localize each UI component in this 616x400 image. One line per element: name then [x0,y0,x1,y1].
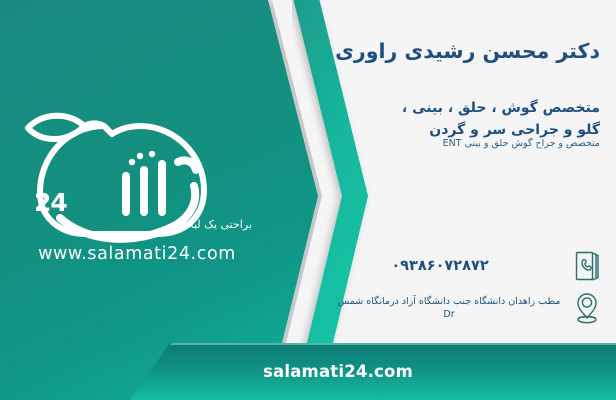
specialty-line-1: متخصص گوش ، حلق ، بینی ، [402,100,600,116]
doctor-specialty: متخصص گوش ، حلق ، بینی ، گلو و جراحی سر … [330,98,600,141]
phone-book-icon [570,246,604,286]
doctor-name: دکتر محسن رشیدی راوری [330,38,600,65]
salamati24-logo: 24 براحتی یک لبخند www.salamati24.com [8,100,266,280]
logo-website-url: www.salamati24.com [8,244,266,264]
doctor-specialty-subtitle: متخصص و جراح گوش حلق و بینی ENT [330,138,600,149]
logo-tagline: براحتی یک لبخند [178,218,252,231]
phone-number: ۰۹۳۸۶۰۷۲۸۷۲ [330,258,570,274]
contact-row-address: مطب زاهدان دانشگاه جنب دانشگاه آزاد درما… [330,288,604,328]
card-content: دکتر محسن رشیدی راوری متخصص گوش ، حلق ، … [320,0,616,400]
clinic-address: مطب زاهدان دانشگاه جنب دانشگاه آزاد درما… [330,295,570,322]
contact-row-phone: ۰۹۳۸۶۰۷۲۸۷۲ [330,246,604,286]
logo-badge-24: 24 [34,188,67,217]
business-card: 24 براحتی یک لبخند www.salamati24.com دک… [0,0,616,400]
location-pin-icon [570,288,604,328]
